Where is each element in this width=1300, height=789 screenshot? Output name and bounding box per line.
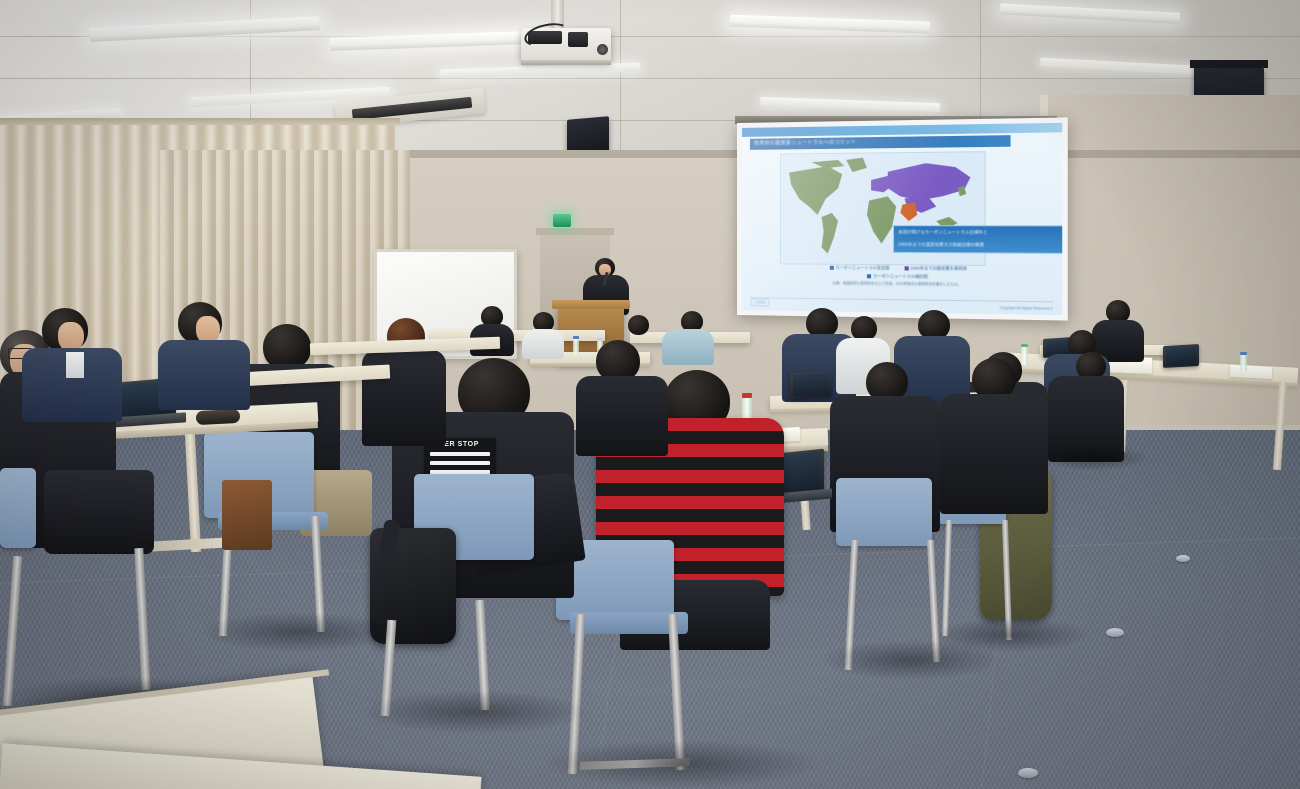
- speaker-bracket: [1190, 60, 1268, 68]
- attendee-lap: [44, 470, 154, 554]
- pouch: [196, 409, 241, 425]
- screen-glare: [742, 123, 1062, 315]
- bottle: [573, 338, 579, 354]
- door-frame: [536, 228, 614, 235]
- podium-top: [552, 300, 630, 309]
- seminar-room-photo: 世界的な脱炭素ニュートラルへのコミット: [0, 0, 1300, 789]
- shirt-collar: [66, 352, 84, 378]
- chair-back: [836, 478, 932, 546]
- presentation-slide: 世界的な脱炭素ニュートラルへのコミット: [742, 123, 1062, 315]
- floor-shadow: [540, 740, 820, 788]
- jacket-print-stripe: [430, 461, 490, 465]
- attendee-head: [628, 315, 649, 335]
- attendee-body: [662, 329, 714, 365]
- floor-shadow: [820, 640, 1000, 680]
- bottle-cap: [742, 393, 752, 398]
- attendee-body: [522, 329, 564, 359]
- attendee-body: [158, 340, 250, 410]
- projector-panel: [568, 32, 588, 47]
- ceiling-tile-line: [620, 0, 621, 160]
- floor-shadow: [200, 612, 400, 652]
- papers: [1230, 365, 1273, 379]
- floor-shadow: [1040, 445, 1150, 471]
- attendee-body: [576, 376, 668, 456]
- attendee-body: [940, 394, 1048, 514]
- floor-outlet: [1106, 628, 1124, 637]
- bottle-cap: [1021, 344, 1028, 347]
- projector-base: [521, 60, 611, 65]
- laptop-screen: [793, 373, 829, 397]
- bottle-cap: [597, 338, 603, 341]
- floor-shadow: [360, 690, 590, 734]
- exit-sign: [553, 214, 571, 227]
- bottle-cap: [573, 336, 579, 339]
- chair-back: [0, 468, 36, 548]
- bottle: [1021, 346, 1028, 365]
- bottle-cap: [1240, 352, 1247, 355]
- floor-outlet: [1018, 768, 1038, 778]
- floor-outlet: [1176, 555, 1190, 562]
- projection-screen: 世界的な脱炭素ニュートラルへのコミット: [737, 117, 1068, 320]
- laptop-screen: [1166, 346, 1196, 366]
- brown-bag: [222, 480, 272, 550]
- bottle: [1240, 354, 1247, 372]
- ceiling-tile-line: [0, 78, 1300, 79]
- jacket-print-stripe: [430, 452, 490, 456]
- projector-lens: [597, 44, 608, 55]
- curtain-rail: [0, 118, 400, 125]
